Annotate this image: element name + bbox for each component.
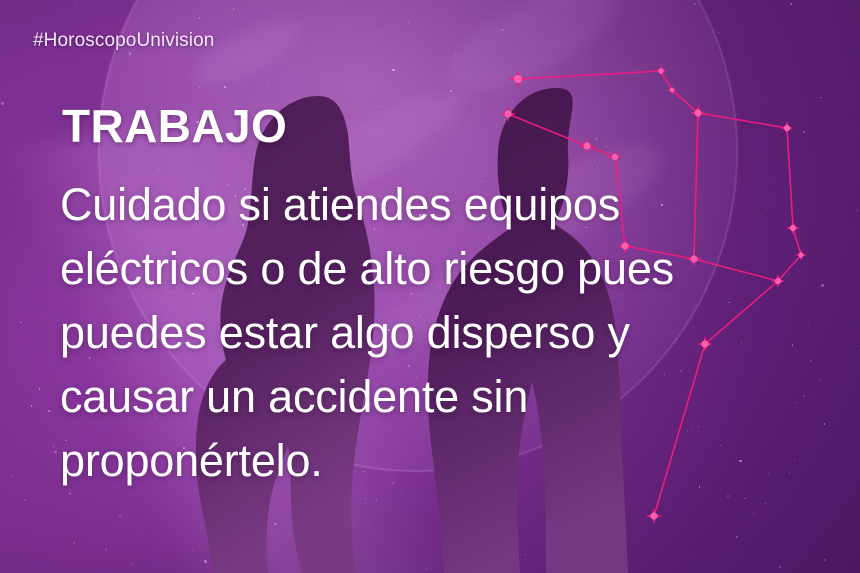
horoscope-body: Cuidado si atiendes equiposeléctricos o … [60, 173, 850, 493]
text-content: #HoroscopoUnivision TRABAJO Cuidado si a… [0, 0, 860, 573]
page-title: TRABAJO [62, 103, 287, 149]
horoscope-line: causar un accidente sin [60, 365, 850, 429]
horoscope-line: eléctricos o de alto riesgo pues [60, 237, 850, 301]
horoscope-line: Cuidado si atiendes equipos [60, 173, 850, 237]
horoscope-line: proponértelo. [60, 429, 850, 493]
horoscope-card: #HoroscopoUnivision TRABAJO Cuidado si a… [0, 0, 860, 573]
horoscope-line: puedes estar algo disperso y [60, 301, 850, 365]
hashtag-label: #HoroscopoUnivision [33, 30, 214, 52]
